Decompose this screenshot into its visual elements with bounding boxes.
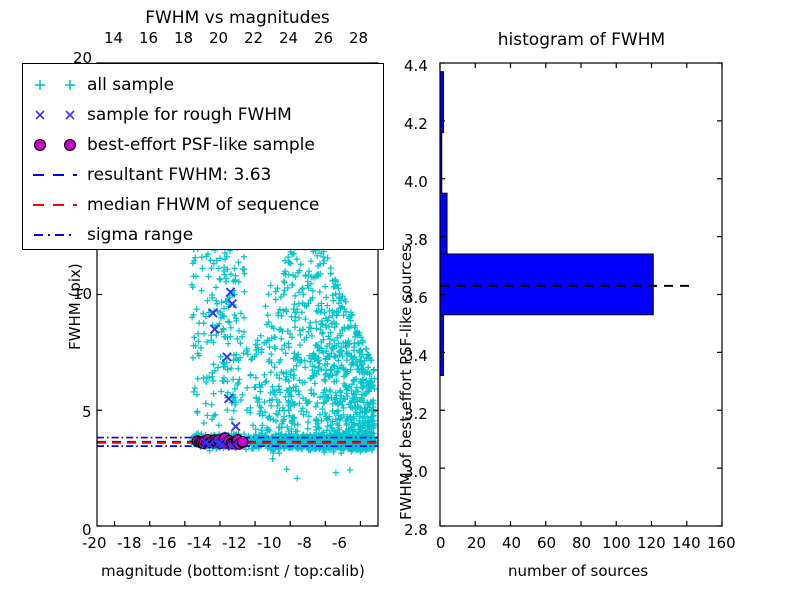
legend-marker-dashdot-icon [23,220,87,250]
legend-label-all-sample: all sample [87,77,174,94]
legend-item-sigma-range[interactable]: sigma range [23,220,383,250]
legend-label-resultant-fwhm: resultant FWHM: 3.63 [87,167,271,184]
legend-marker-cross-icon [23,100,87,130]
legend-marker-dashed-blue-icon [23,160,87,190]
histogram-bars [440,72,653,376]
legend-label-rough-fwhm: sample for rough FWHM [87,107,292,124]
legend-marker-circle-icon [23,130,87,160]
legend-label-psf-sample: best-effort PSF-like sample [87,137,315,154]
legend-marker-dashed-red-icon [23,190,87,220]
legend-item-median-fhwm[interactable]: median FHWM of sequence [23,190,383,220]
legend-label-sigma-range: sigma range [87,227,193,244]
legend-item-rough-fwhm[interactable]: sample for rough FWHM [23,100,383,130]
legend-label-median-fhwm: median FHWM of sequence [87,197,319,214]
legend-item-all-sample[interactable]: all sample [23,70,383,100]
legend-marker-plus-icon [23,70,87,100]
legend-box: all sample sample for rough FWHM b [22,63,384,250]
legend-item-psf-sample[interactable]: best-effort PSF-like sample [23,130,383,160]
figure-canvas: FWHM vs magnitudes 14 16 18 20 22 24 26 … [0,0,800,600]
legend-item-resultant-fwhm[interactable]: resultant FWHM: 3.63 [23,160,383,190]
